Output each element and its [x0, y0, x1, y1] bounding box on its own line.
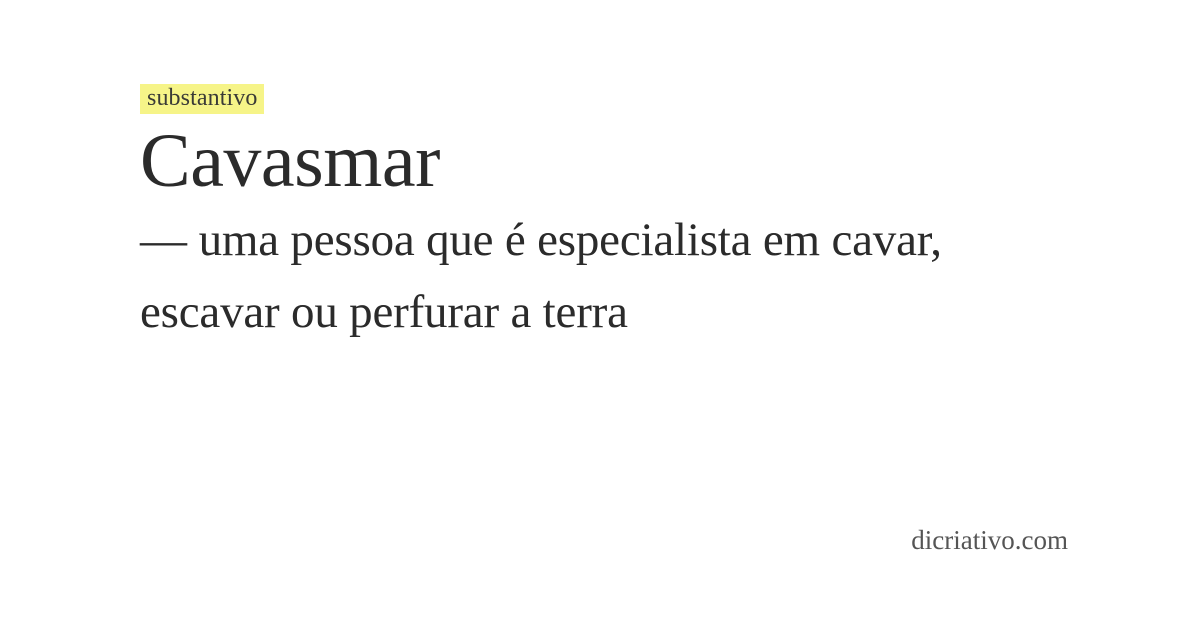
part-of-speech-row: substantivo [140, 84, 1080, 114]
definition-dash: — [140, 214, 187, 266]
site-attribution: dicriativo.com [911, 525, 1068, 555]
definition-text: — uma pessoa que é especialista em cavar… [140, 204, 1000, 348]
definition-body: uma pessoa que é especialista em cavar, … [140, 214, 942, 338]
headword-title: Cavasmar [140, 118, 1080, 204]
definition-card: substantivo Cavasmar — uma pessoa que é … [0, 0, 1200, 620]
entry-content: substantivo Cavasmar — uma pessoa que é … [140, 84, 1080, 348]
part-of-speech-badge: substantivo [140, 84, 264, 114]
